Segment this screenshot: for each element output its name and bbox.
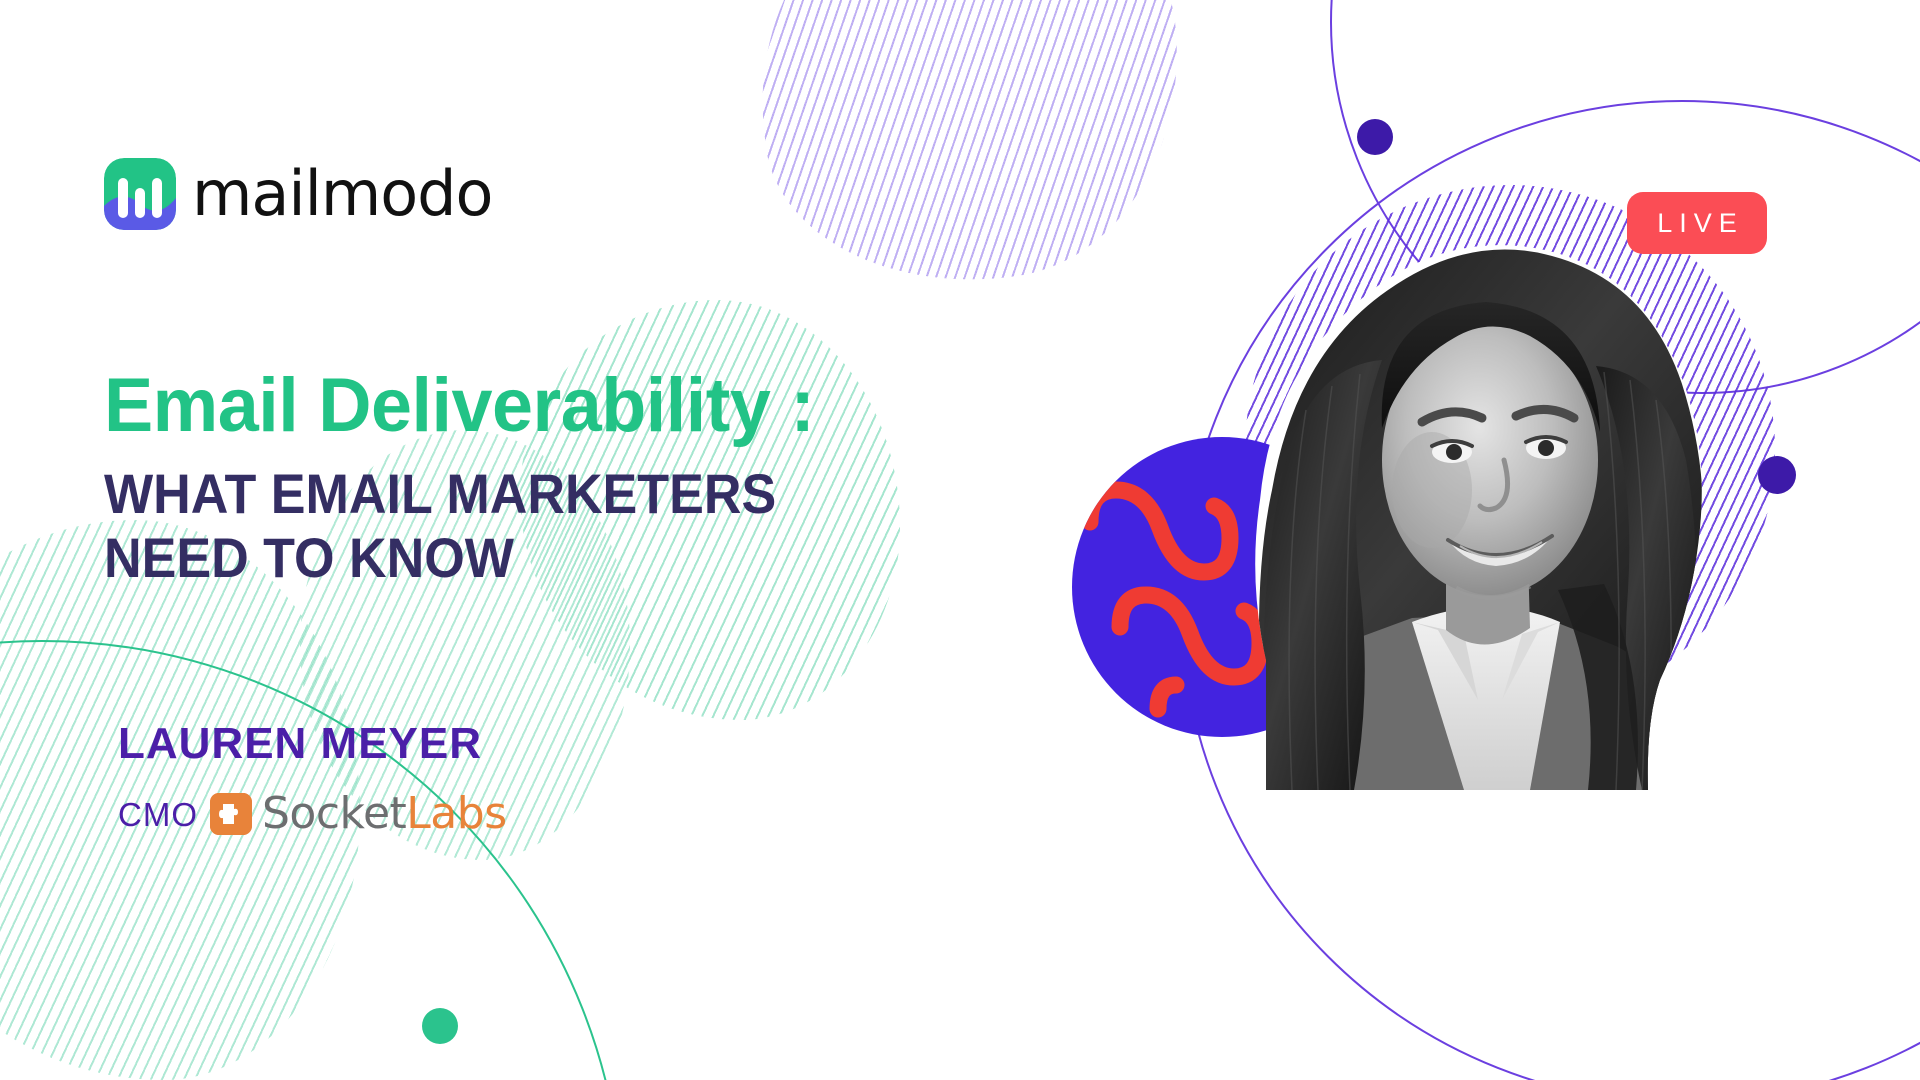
socketlabs-puzzle-icon — [210, 793, 252, 835]
headline-block: Email Deliverability : WHAT EMAIL MARKET… — [104, 368, 1044, 590]
green-dot-bottom-icon — [422, 1008, 458, 1044]
teal-circle-outline-icon — [0, 640, 624, 1080]
status-badge: LIVE — [1627, 192, 1767, 254]
speaker-role-row: CMO SocketLabs — [118, 792, 507, 836]
socketlabs-logo: SocketLabs — [210, 792, 507, 836]
portrait-of-lauren-meyer-image — [1060, 160, 1800, 790]
purple-dot-top-icon — [1357, 119, 1393, 155]
speaker-block: LAUREN MEYER CMO SocketLabs — [118, 722, 507, 836]
brand-logo[interactable]: mailmodo — [104, 158, 492, 230]
mailmodo-logo-icon — [104, 158, 176, 230]
avatar — [1060, 160, 1800, 790]
page-subtitle: WHAT EMAIL MARKETERS NEED TO KNOW — [104, 462, 978, 590]
speaker-role: CMO — [118, 798, 198, 831]
page-subtitle-line-2: NEED TO KNOW — [104, 526, 978, 590]
webinar-promo-banner: LIVE mailmodo Email Deliverability : W — [0, 0, 1920, 1080]
socketlabs-wordmark-part2: Labs — [406, 788, 506, 839]
socketlabs-wordmark-part1: Socket — [262, 788, 406, 839]
brand-wordmark: mailmodo — [192, 163, 492, 225]
page-title: Email Deliverability : — [104, 368, 1016, 444]
page-subtitle-line-1: WHAT EMAIL MARKETERS — [104, 462, 978, 526]
socketlabs-wordmark: SocketLabs — [262, 792, 507, 836]
speaker-name: LAUREN MEYER — [118, 722, 507, 766]
purple-dot-right-icon — [1758, 456, 1796, 494]
